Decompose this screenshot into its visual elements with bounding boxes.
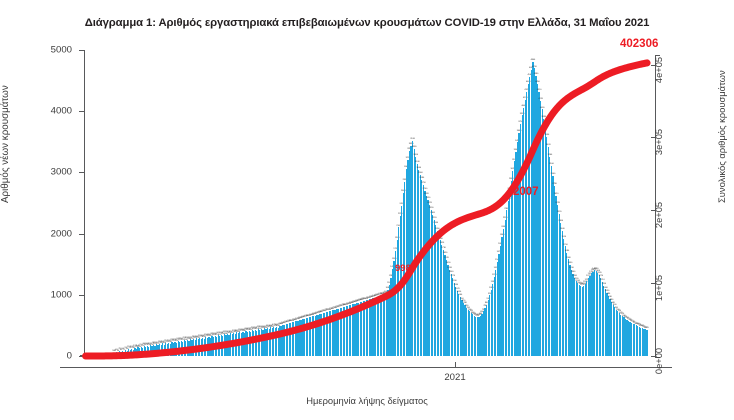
y-tick-label-left: 4000 [28, 106, 72, 117]
y-tick-label-left: 1000 [28, 289, 72, 300]
chart-figure: Διάγραμμα 1: Αριθμός εργαστηριακά επιβεβ… [0, 0, 734, 420]
y-axis-right-title: Συνολικός αριθμός κρουσμάτων [716, 70, 727, 203]
y-tick-left [79, 111, 84, 112]
y-tick-left [79, 295, 84, 296]
x-axis [60, 367, 672, 368]
annotation-total-final: 402306 [620, 38, 658, 50]
x-axis-tick [455, 362, 456, 368]
cumulative-line-series [85, 50, 648, 356]
page-title: Διάγραμμα 1: Αριθμός εργαστηριακά επιβεβ… [0, 17, 734, 29]
y-axis-left-title: Αριθμός νέων κρουσμάτων [0, 85, 11, 203]
x-axis-title: Ημερομηνία λήψης δείγματος [0, 395, 734, 406]
y-tick-label-right: 3e+05 [654, 129, 664, 155]
y-tick-label-left: 5000 [28, 45, 72, 56]
y-tick-label-right: 2e+05 [654, 202, 664, 228]
y-tick-left [79, 50, 84, 51]
x-axis-tick-label: 2021 [444, 372, 465, 383]
y-tick-label-left: 3000 [28, 167, 72, 178]
y-tick-label-right: 0e+00 [654, 348, 664, 374]
y-tick-label-left: 2000 [28, 228, 72, 239]
y-tick-left [79, 172, 84, 173]
y-tick-label-right: 1e+05 [654, 275, 664, 301]
y-tick-label-right: 4e+05 [654, 57, 664, 83]
annotation-total-low: 998 [395, 263, 411, 274]
y-tick-left [79, 234, 84, 235]
annotation-total-mid: 2007 [513, 186, 539, 198]
y-tick-label-left: 0 [28, 351, 72, 362]
